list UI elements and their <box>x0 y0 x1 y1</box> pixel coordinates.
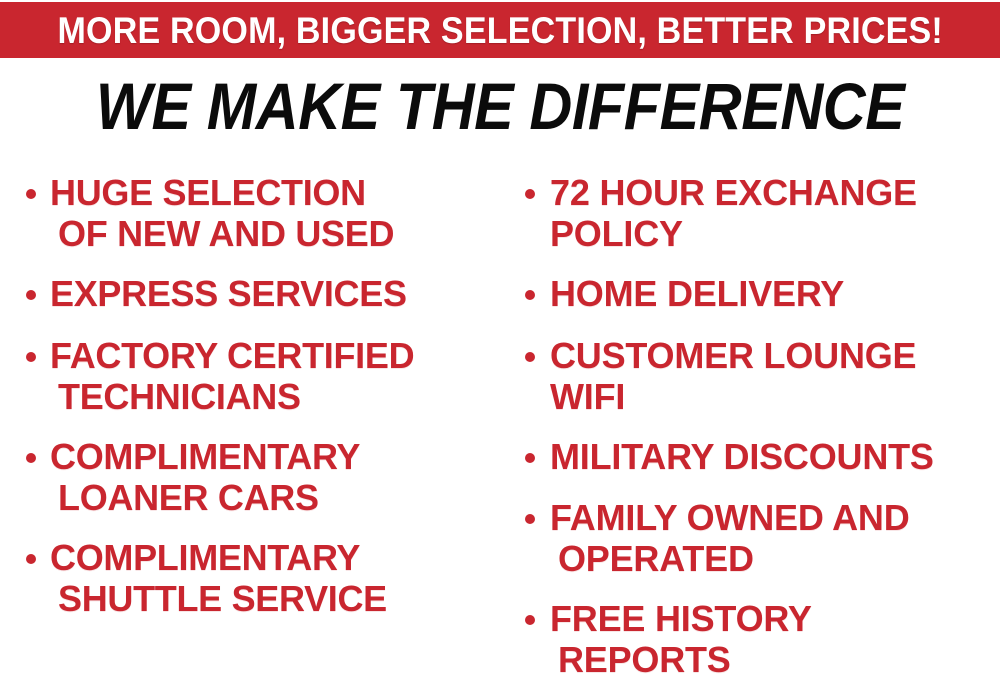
list-item-line: CUSTOMER LOUNGE <box>550 335 916 376</box>
main-headline-text: WE MAKE THE DIFFERENCE <box>96 73 905 139</box>
bullet-dot-icon <box>525 352 535 362</box>
list-item: FAMILY OWNED AND OPERATED <box>500 497 910 579</box>
list-item-line: WIFI <box>550 376 916 417</box>
list-item-line: FAMILY OWNED AND <box>550 497 910 538</box>
bullet-dot-icon <box>26 189 36 199</box>
main-headline: WE MAKE THE DIFFERENCE <box>0 70 1000 142</box>
bullet-dot-icon <box>26 554 36 564</box>
list-item: COMPLIMENTARY LOANER CARS <box>0 436 360 518</box>
dealership-benefits-poster: MORE ROOM, BIGGER SELECTION, BETTER PRIC… <box>0 0 1000 694</box>
list-item-text: MILITARY DISCOUNTS <box>550 436 934 477</box>
benefits-column-right: 72 HOUR EXCHANGE POLICY HOME DELIVERY CU… <box>500 160 1000 694</box>
list-item-text: CUSTOMER LOUNGE WIFI <box>550 335 916 417</box>
bullet-dot-icon <box>525 615 535 625</box>
list-item-line: HUGE SELECTION <box>50 172 394 213</box>
list-item: HOME DELIVERY <box>500 273 844 314</box>
banner-headline-text: MORE ROOM, BIGGER SELECTION, BETTER PRIC… <box>57 12 942 49</box>
list-item-line: COMPLIMENTARY <box>50 537 387 578</box>
list-item-line: LOANER CARS <box>50 477 360 518</box>
list-item-line: 72 HOUR EXCHANGE <box>550 172 917 213</box>
list-item: HUGE SELECTION OF NEW AND USED <box>0 172 394 254</box>
benefits-columns: HUGE SELECTION OF NEW AND USED EXPRESS S… <box>0 160 1000 694</box>
list-item-line: OF NEW AND USED <box>50 213 394 254</box>
list-item: CUSTOMER LOUNGE WIFI <box>500 335 916 417</box>
bullet-dot-icon <box>26 290 36 300</box>
list-item: FACTORY CERTIFIED TECHNICIANS <box>0 335 414 417</box>
top-banner: MORE ROOM, BIGGER SELECTION, BETTER PRIC… <box>0 2 1000 58</box>
list-item-line: OPERATED <box>550 538 910 579</box>
list-item-line: SHUTTLE SERVICE <box>50 578 387 619</box>
list-item: MILITARY DISCOUNTS <box>500 436 934 477</box>
list-item-text: COMPLIMENTARY SHUTTLE SERVICE <box>50 537 387 619</box>
list-item-line: EXPRESS SERVICES <box>50 273 407 314</box>
list-item-line: HOME DELIVERY <box>550 273 844 314</box>
list-item-line: FACTORY CERTIFIED <box>50 335 414 376</box>
list-item-text: EXPRESS SERVICES <box>50 273 407 314</box>
list-item: FREE HISTORY REPORTS <box>500 598 812 680</box>
bullet-dot-icon <box>26 352 36 362</box>
list-item-text: 72 HOUR EXCHANGE POLICY <box>550 172 917 254</box>
list-item-text: FAMILY OWNED AND OPERATED <box>550 497 910 579</box>
bullet-dot-icon <box>525 453 535 463</box>
list-item-line: POLICY <box>550 213 917 254</box>
bullet-dot-icon <box>525 189 535 199</box>
list-item: COMPLIMENTARY SHUTTLE SERVICE <box>0 537 387 619</box>
list-item: EXPRESS SERVICES <box>0 273 407 314</box>
bullet-dot-icon <box>525 290 535 300</box>
list-item-text: FACTORY CERTIFIED TECHNICIANS <box>50 335 414 417</box>
bullet-dot-icon <box>26 453 36 463</box>
list-item-line: MILITARY DISCOUNTS <box>550 436 934 477</box>
list-item-line: REPORTS <box>550 639 812 680</box>
list-item-line: TECHNICIANS <box>50 376 414 417</box>
list-item-text: COMPLIMENTARY LOANER CARS <box>50 436 360 518</box>
list-item-text: HOME DELIVERY <box>550 273 844 314</box>
bullet-dot-icon <box>525 514 535 524</box>
list-item-text: HUGE SELECTION OF NEW AND USED <box>50 172 394 254</box>
list-item-text: FREE HISTORY REPORTS <box>550 598 812 680</box>
benefits-column-left: HUGE SELECTION OF NEW AND USED EXPRESS S… <box>0 160 500 694</box>
list-item: 72 HOUR EXCHANGE POLICY <box>500 172 917 254</box>
list-item-line: FREE HISTORY <box>550 598 812 639</box>
list-item-line: COMPLIMENTARY <box>50 436 360 477</box>
